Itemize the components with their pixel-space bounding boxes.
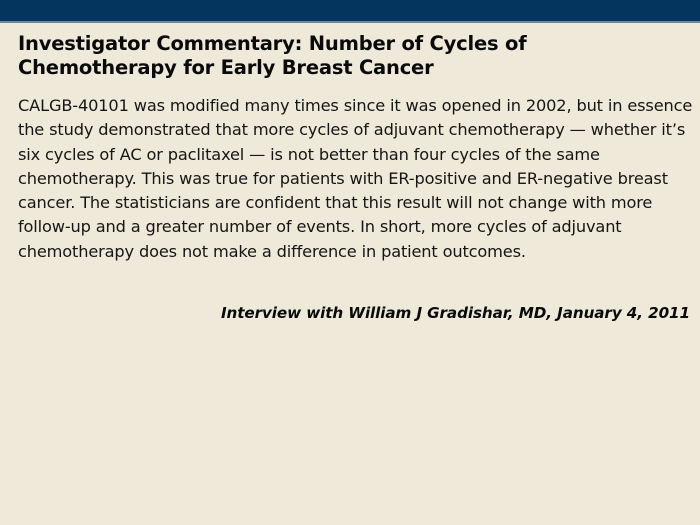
slide-content: Investigator Commentary: Number of Cycle…: [0, 23, 700, 525]
commentary-body-text: CALGB-40101 was modified many times sinc…: [18, 94, 694, 264]
slide: Investigator Commentary: Number of Cycle…: [0, 0, 700, 525]
interview-attribution: Interview with William J Gradishar, MD, …: [18, 303, 690, 323]
top-banner: [0, 0, 700, 21]
page-title: Investigator Commentary: Number of Cycle…: [18, 32, 682, 79]
